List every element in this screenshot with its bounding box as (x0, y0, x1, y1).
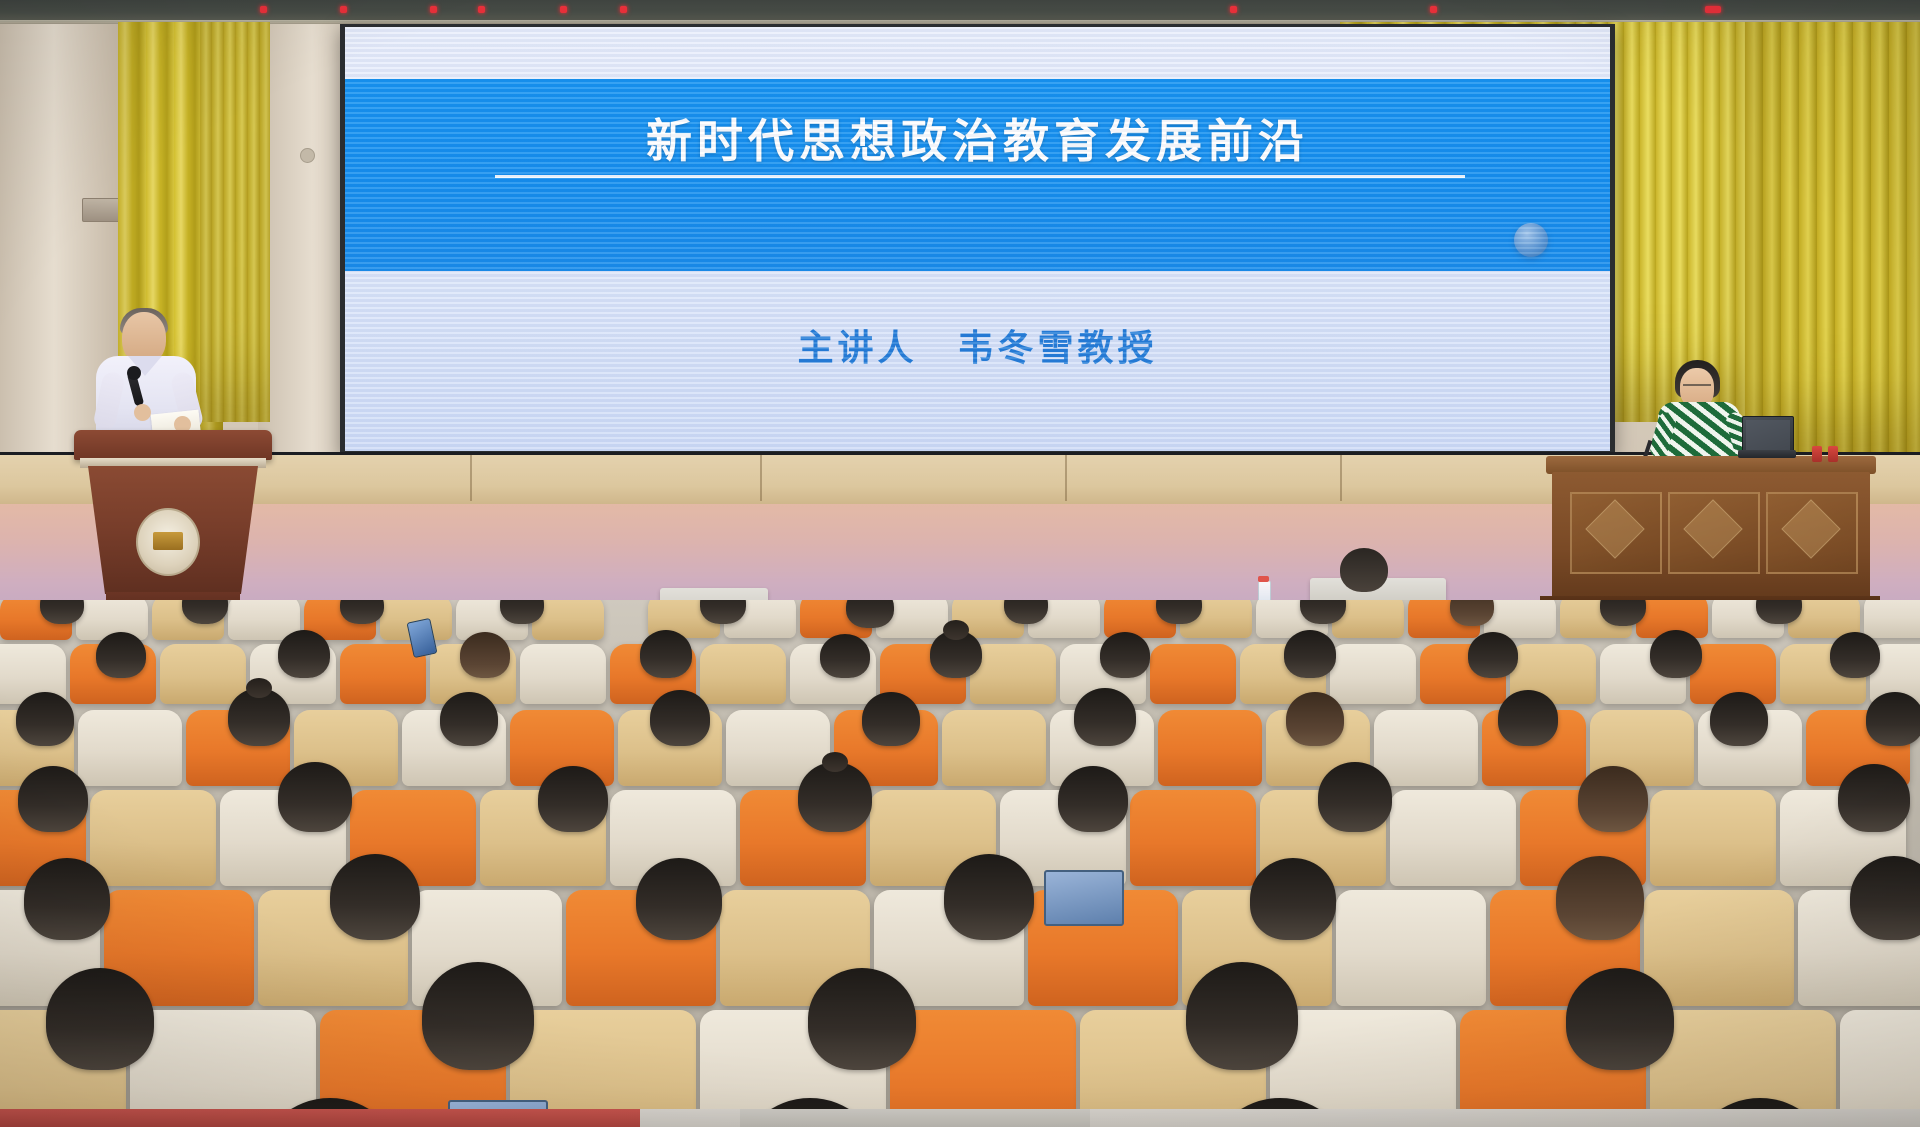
audience-head (846, 600, 894, 628)
audience-head (1710, 692, 1768, 746)
audience-head (1498, 690, 1558, 746)
audience-head (930, 630, 982, 678)
stage-wall-seam (470, 455, 472, 501)
seat (1650, 790, 1776, 886)
seat (90, 790, 216, 886)
audience-head (862, 692, 920, 746)
audience-head (538, 766, 608, 832)
audience-head (96, 632, 146, 678)
presenter-hand-left (134, 404, 151, 421)
audience-head (1284, 630, 1336, 678)
ceiling-light-icon (260, 6, 267, 13)
seat (1330, 644, 1416, 704)
seat (1390, 790, 1516, 886)
audience-head (808, 968, 916, 1070)
audience-head (944, 854, 1034, 940)
lectern-top (74, 430, 272, 460)
bottom-center-band (740, 1109, 1090, 1127)
stage-wall-seam (1340, 455, 1342, 501)
stage-wall-seam (1065, 455, 1067, 501)
projector-cursor-orb-icon (1514, 223, 1548, 257)
audience-head (46, 968, 154, 1070)
lecture-hall-photo: 新时代思想政治教育发展前沿 主讲人 韦冬雪教授 (0, 0, 1920, 1127)
audience-head (340, 600, 384, 624)
audience-head (440, 692, 498, 746)
audience-head (1058, 766, 1128, 832)
audience-head (1250, 858, 1336, 940)
audience-head (1286, 692, 1344, 746)
ceiling-light-icon (430, 6, 437, 13)
projection-screen: 新时代思想政治教育发展前沿 主讲人 韦冬雪教授 (345, 27, 1610, 451)
ceiling-light-icon (620, 6, 627, 13)
slide-title: 新时代思想政治教育发展前沿 (345, 105, 1610, 171)
seat (970, 644, 1056, 704)
seat (1864, 600, 1920, 638)
red-cup-icon (1812, 446, 1822, 462)
slide-divider (495, 175, 1465, 178)
bottom-left-band (0, 1109, 640, 1127)
seat (700, 644, 786, 704)
audience-head (1468, 632, 1518, 678)
audience-head (650, 690, 710, 746)
audience-tablet-icon (1044, 870, 1124, 926)
seat (160, 644, 246, 704)
audience-head (1100, 632, 1150, 678)
audience-head (16, 692, 74, 746)
seat (1130, 790, 1256, 886)
seat (1150, 644, 1236, 704)
seat (520, 644, 606, 704)
host-laptop-base (1738, 450, 1796, 458)
host-laptop-screen (1742, 416, 1794, 454)
wall-fixture-icon (300, 148, 315, 163)
seat (78, 710, 182, 786)
audience-head (1578, 766, 1648, 832)
seat (1336, 890, 1486, 1006)
stage-curtain-far-right (1745, 22, 1920, 452)
stage-curtain-left-2 (200, 22, 270, 422)
ceiling-light-icon (478, 6, 485, 13)
audience-head (1074, 688, 1136, 746)
audience-head (798, 762, 872, 832)
ceiling-light-icon (340, 6, 347, 13)
university-crest-icon (136, 508, 200, 576)
audience-head (228, 688, 290, 746)
audience-head (820, 634, 870, 678)
ceiling-light-icon (1230, 6, 1237, 13)
ceiling-light-icon (1705, 6, 1721, 13)
audience-head (1866, 692, 1920, 746)
ceiling-light-icon (560, 6, 567, 13)
audience-head (422, 962, 534, 1070)
seat (942, 710, 1046, 786)
audience-head (1556, 856, 1644, 940)
audience-head (1566, 968, 1674, 1070)
seat (1158, 710, 1262, 786)
glasses-icon (1683, 384, 1711, 393)
microphone-head-icon (127, 366, 141, 380)
seat (1644, 890, 1794, 1006)
ceiling (0, 0, 1920, 22)
audience-head (460, 632, 510, 678)
audience-head (1838, 764, 1910, 832)
audience-head (278, 630, 330, 678)
audience-head (24, 858, 110, 940)
seat (1374, 710, 1478, 786)
audience-head (1650, 630, 1702, 678)
audience-head (1318, 762, 1392, 832)
slide-subtitle: 主讲人 韦冬雪教授 (345, 319, 1610, 371)
audience-head (1830, 632, 1880, 678)
front-row-attendee-head (1340, 548, 1388, 592)
audience-head (1186, 962, 1298, 1070)
audience-head (18, 766, 88, 832)
red-cup-icon (1828, 446, 1838, 462)
stage-wall-seam (760, 455, 762, 501)
ceiling-light-icon (1430, 6, 1437, 13)
audience-head (636, 858, 722, 940)
audience-head (330, 854, 420, 940)
audience-head (640, 630, 692, 678)
audience-area (0, 600, 1920, 1127)
bottle-cap-icon (1258, 576, 1269, 582)
audience-head (278, 762, 352, 832)
